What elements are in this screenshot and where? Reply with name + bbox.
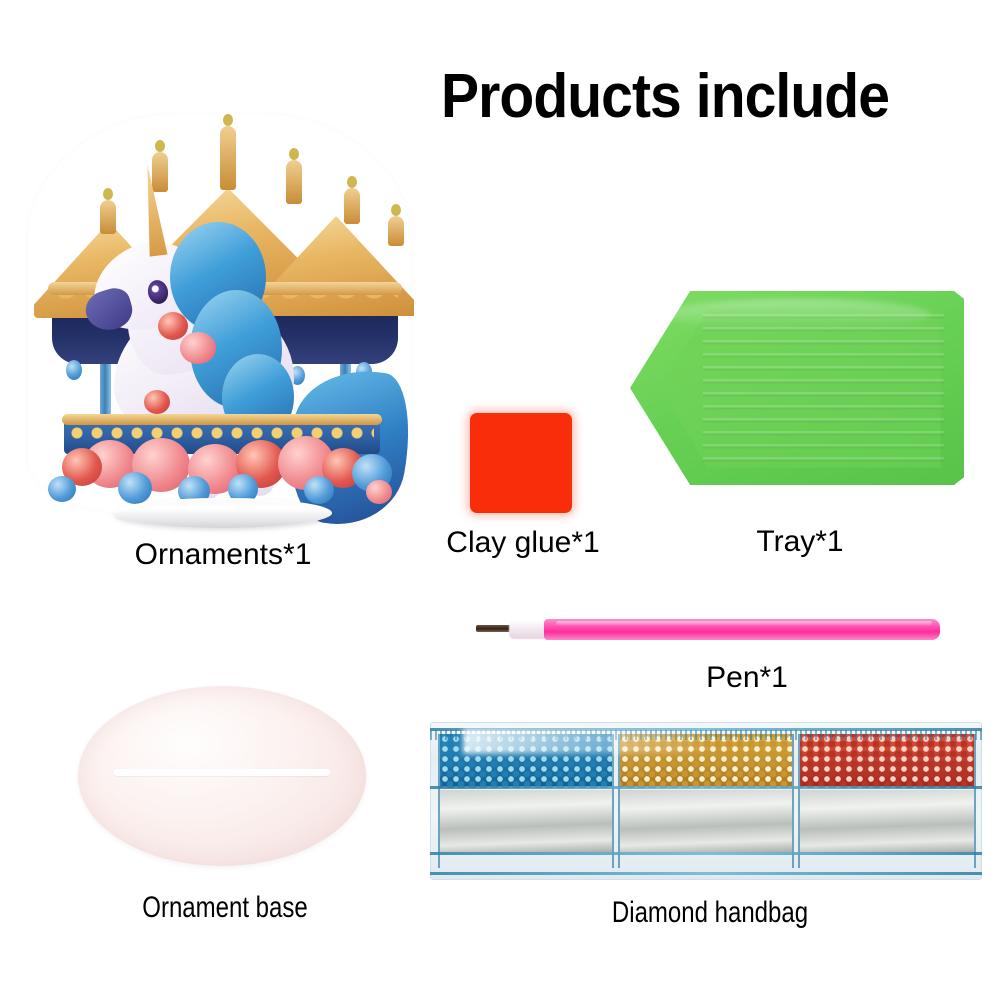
ornament-acrylic-stand xyxy=(114,498,332,528)
diamond-painting-tray-icon xyxy=(630,291,964,485)
rhinestone-bag-icon xyxy=(430,722,982,880)
rhinestone-pouch-gold xyxy=(618,734,794,868)
ornaments-caption: Ornaments*1 xyxy=(58,540,388,570)
page-title: Products include xyxy=(441,66,956,128)
tray-caption: Tray*1 xyxy=(700,527,900,557)
ornaments-image xyxy=(22,104,417,534)
product-contents-poster: Products include xyxy=(0,0,1001,1001)
rhinestone-pouch-blue xyxy=(438,734,614,868)
carousel-unicorn-ornament-icon xyxy=(22,104,417,534)
oval-acrylic-base-icon xyxy=(78,686,366,866)
clay-glue-caption: Clay glue*1 xyxy=(408,528,638,558)
pen-caption: Pen*1 xyxy=(622,663,872,693)
rhinestone-pouch-red xyxy=(798,734,976,868)
base-slot xyxy=(114,769,330,776)
pen-tip xyxy=(476,625,512,632)
diamond-handbag-caption: Diamond handbag xyxy=(578,898,842,928)
diamond-painting-pen-icon xyxy=(476,612,944,646)
clay-glue-square-icon xyxy=(470,413,572,513)
ornament-base-caption: Ornament base xyxy=(93,893,357,923)
